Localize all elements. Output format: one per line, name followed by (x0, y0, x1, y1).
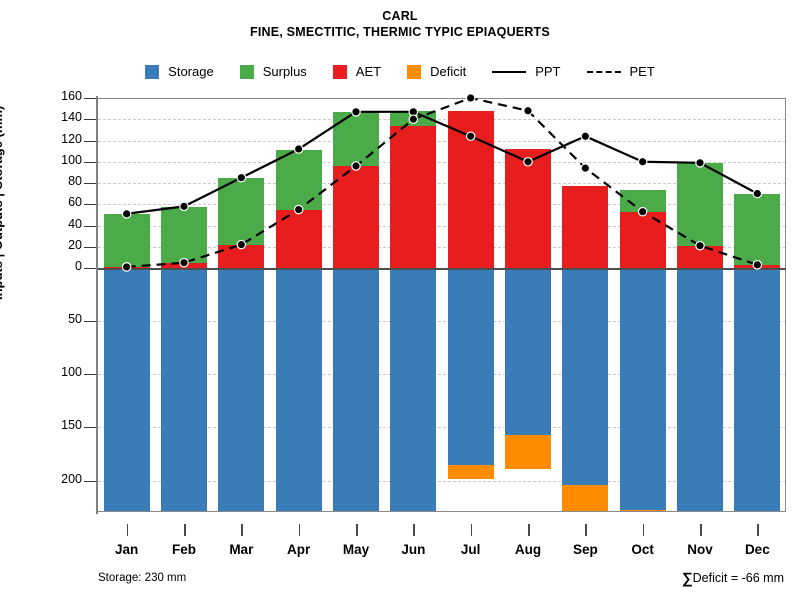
deficit-total-text: Deficit = -66 mm (693, 571, 784, 585)
deficit-total-label: ∑Deficit = -66 mm (682, 570, 784, 587)
legend-label: AET (356, 64, 381, 79)
y-tick-mark (84, 374, 96, 375)
y-tick-mark (84, 481, 96, 482)
legend-item-aet[interactable]: AET (333, 64, 381, 79)
zero-baseline (98, 268, 786, 270)
chart-title: CARL FINE, SMECTITIC, THERMIC TYPIC EPIA… (0, 8, 800, 40)
x-tick-mark (528, 524, 530, 536)
legend-item-surplus[interactable]: Surplus (240, 64, 307, 79)
y-tick-label: 120 (22, 132, 82, 146)
y-tick-mark (84, 119, 96, 120)
x-tick-mark (413, 524, 415, 536)
y-tick-mark (84, 183, 96, 184)
legend-dashed-line-icon (587, 71, 621, 73)
x-tick-mark (585, 524, 587, 536)
y-tick-label: 20 (22, 238, 82, 252)
y-tick-label: 60 (22, 195, 82, 209)
legend-swatch-icon (333, 65, 347, 79)
storage-total-label: Storage: 230 mm (98, 572, 186, 584)
x-tick-mark (299, 524, 301, 536)
x-tick-mark (643, 524, 645, 536)
legend-item-deficit[interactable]: Deficit (407, 64, 466, 79)
y-tick-mark (84, 427, 96, 428)
y-tick-label: 80 (22, 174, 82, 188)
legend-label: Storage (168, 64, 214, 79)
y-tick-label: 40 (22, 217, 82, 231)
y-tick-label: 200 (22, 472, 82, 486)
x-tick-mark (184, 524, 186, 536)
x-tick-label-dec: Dec (717, 542, 797, 557)
x-tick-mark (127, 524, 129, 536)
y-tick-label: 100 (22, 153, 82, 167)
y-axis-labels: 02040608010012014016050100150200 (14, 0, 82, 600)
y-tick-label: 160 (22, 89, 82, 103)
sigma-symbol: ∑ (682, 570, 693, 587)
chart-root: CARL FINE, SMECTITIC, THERMIC TYPIC EPIA… (0, 0, 800, 600)
legend-solid-line-icon (492, 71, 526, 73)
y-tick-label: 140 (22, 110, 82, 124)
y-tick-label: 100 (22, 365, 82, 379)
legend-item-storage[interactable]: Storage (145, 64, 214, 79)
legend-item-ppt[interactable]: PPT (492, 64, 560, 79)
y-tick-mark (84, 98, 96, 99)
x-tick-mark (700, 524, 702, 536)
title-line-2: FINE, SMECTITIC, THERMIC TYPIC EPIAQUERT… (0, 24, 800, 40)
y-axis-title: Inputs | Outputs | Storage (mm) (0, 106, 5, 300)
title-line-1: CARL (0, 8, 800, 24)
y-tick-label: 150 (22, 418, 82, 432)
y-tick-mark (84, 226, 96, 227)
x-tick-mark (241, 524, 243, 536)
x-tick-mark (757, 524, 759, 536)
y-tick-mark (84, 141, 96, 142)
legend-label: Deficit (430, 64, 466, 79)
plot-frame (98, 98, 786, 512)
y-tick-label: 50 (22, 312, 82, 326)
y-tick-mark (84, 162, 96, 163)
legend-label: Surplus (263, 64, 307, 79)
legend-label: PPT (535, 64, 560, 79)
y-tick-label: 0 (22, 259, 82, 273)
y-tick-mark (84, 204, 96, 205)
y-tick-mark (84, 321, 96, 322)
legend-swatch-icon (145, 65, 159, 79)
y-tick-mark (84, 247, 96, 248)
legend-swatch-icon (407, 65, 421, 79)
x-tick-mark (471, 524, 473, 536)
legend-item-pet[interactable]: PET (587, 64, 655, 79)
chart-legend: StorageSurplusAETDeficitPPTPET (0, 64, 800, 79)
legend-swatch-icon (240, 65, 254, 79)
legend-label: PET (630, 64, 655, 79)
x-tick-mark (356, 524, 358, 536)
y-tick-mark (84, 268, 96, 269)
